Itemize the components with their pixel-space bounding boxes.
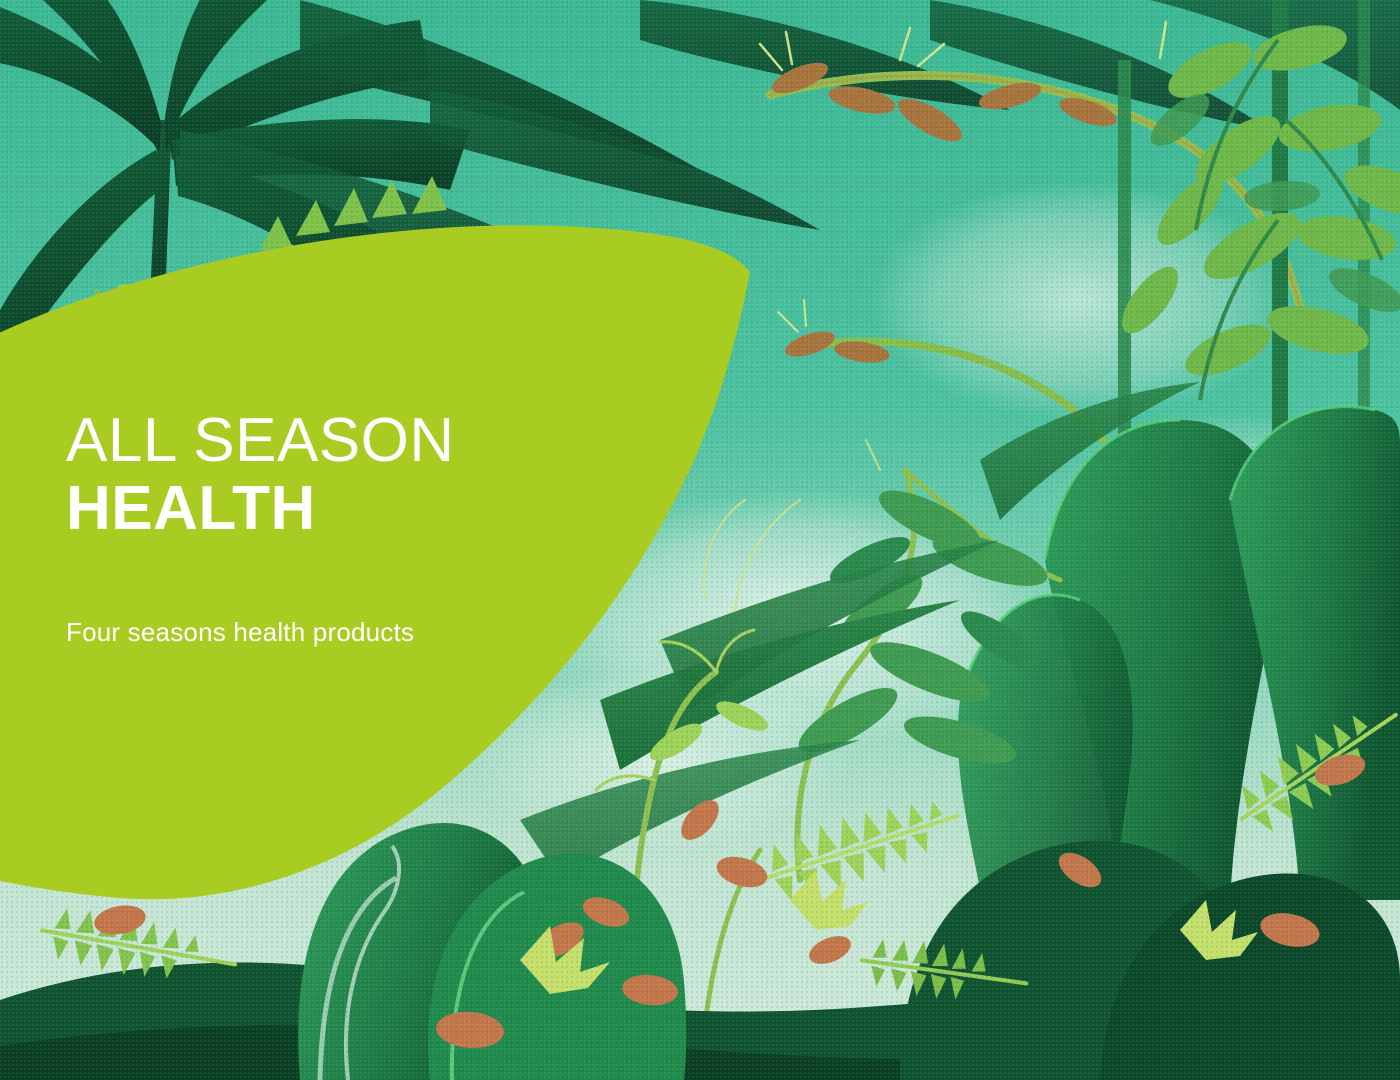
page-title-line1: ALL SEASON bbox=[66, 408, 586, 474]
page-title-line2: HEALTH bbox=[66, 474, 586, 544]
panel-text-block: ALL SEASON HEALTH Four seasons health pr… bbox=[66, 408, 586, 648]
hero-banner: ALL SEASON HEALTH Four seasons health pr… bbox=[0, 0, 1400, 1080]
page-subtitle: Four seasons health products bbox=[66, 616, 586, 648]
